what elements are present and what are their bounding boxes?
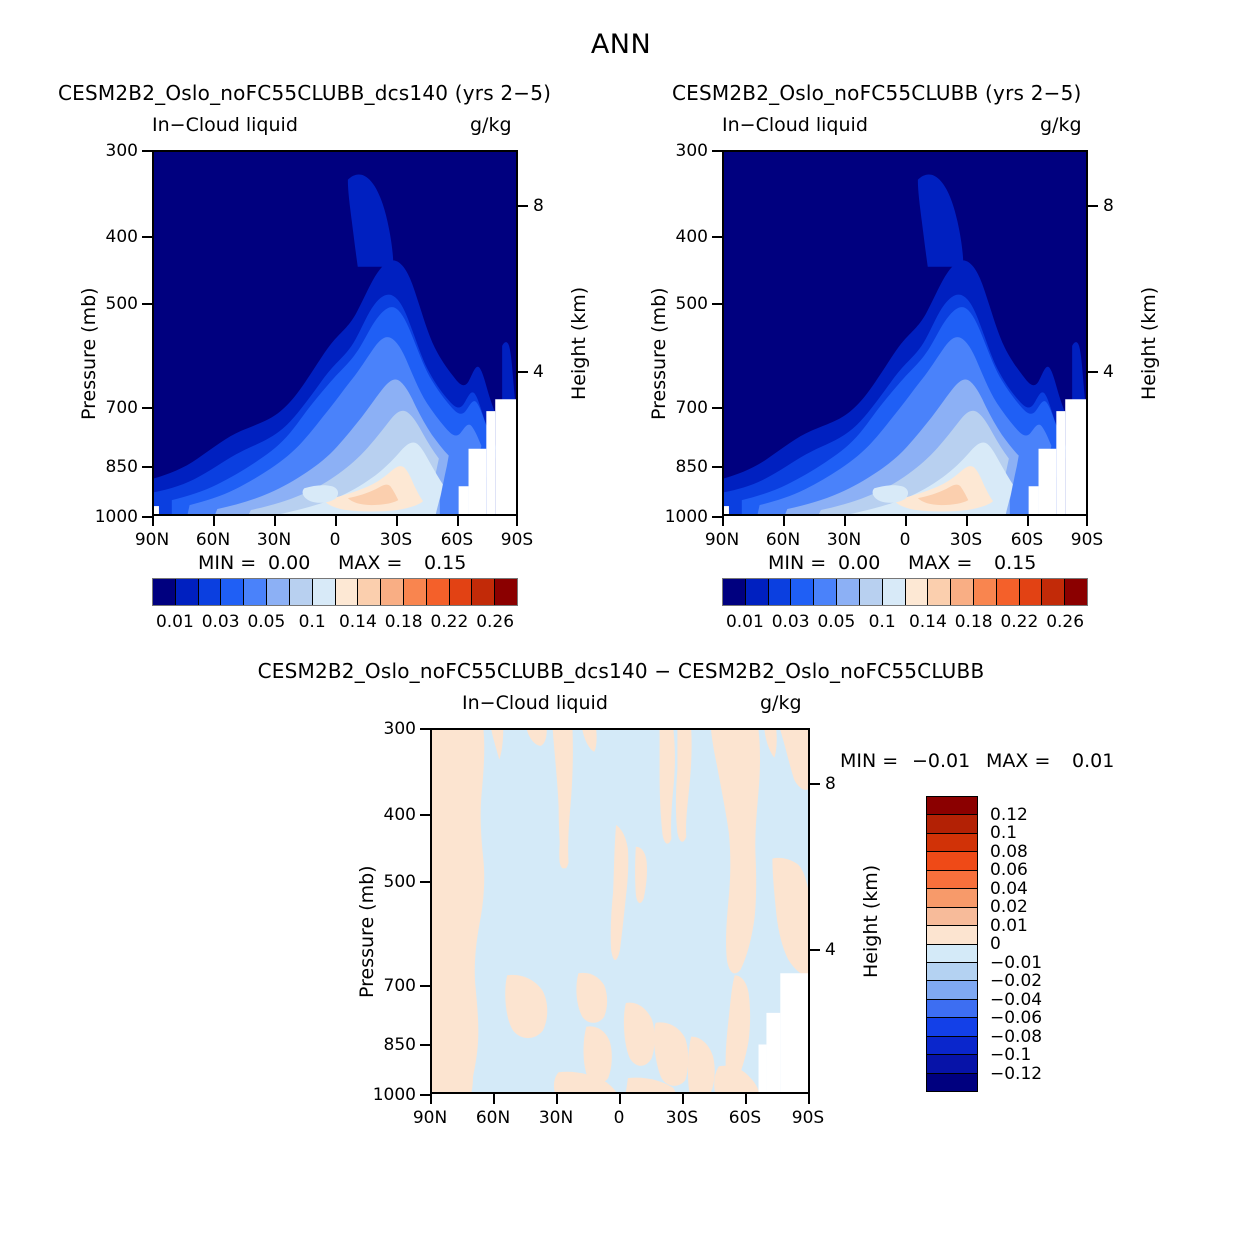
colorbar-cell-15[interactable] [1065,579,1087,605]
ytick-difference-300 [420,728,430,730]
xtick-control-1 [783,516,785,526]
minmax-value-min-difference: −0.01 [912,750,970,772]
ytick-test-500 [142,303,152,305]
xtick-label-difference-60S: 60S [715,1108,775,1128]
xtick-difference-3 [619,1094,621,1104]
colorbar-diff-cell-15[interactable] [927,1074,977,1091]
colorbar-cell-1[interactable] [176,579,199,605]
ytick-right-control-8 [1088,205,1098,207]
ytick-test-1000 [142,516,152,518]
minmax-value-max-control: 0.15 [994,552,1036,574]
xtick-label-test-90S: 90S [487,530,547,550]
minmax-value-min-control: 0.00 [838,552,880,574]
colorbar-difference-labels: 0.120.10.080.060.040.020.010−0.01−0.02−0… [984,796,1074,1092]
ytick-right-test-8 [518,205,528,207]
ytick-label-test-850: 850 [86,457,138,477]
colorbar-tick-label-7: 0.26 [1046,612,1084,632]
minmax-label-min-test: MIN = [198,552,256,574]
colorbar-diff-tick-label-10: −0.04 [990,990,1042,1010]
xtick-difference-1 [493,1094,495,1104]
ytick-right-label-difference-4: 4 [825,940,836,960]
ytick-difference-1000 [420,1094,430,1096]
xtick-difference-2 [556,1094,558,1104]
colorbar-test[interactable] [152,578,518,606]
ytick-control-1000 [712,516,722,518]
xtick-label-difference-90S: 90S [778,1108,838,1128]
colorbar-tick-label-5: 0.18 [385,612,423,632]
colorbar-tick-label-0: 0.01 [726,612,764,632]
xtick-control-4 [966,516,968,526]
ytick-difference-850 [420,1044,430,1046]
xtick-test-3 [335,516,337,526]
xtick-label-difference-90N: 90N [400,1108,460,1128]
colorbar-diff-tick-label-8: −0.01 [990,953,1042,973]
colorbar-diff-tick-label-11: −0.06 [990,1008,1042,1028]
colorbar-cell-3[interactable] [221,579,244,605]
colorbar-cell-1[interactable] [746,579,769,605]
minmax-label-max-difference: MAX = [986,750,1050,772]
colorbar-diff-tick-label-13: −0.1 [990,1045,1031,1065]
panel-title-difference: CESM2B2_Oslo_noFC55CLUBB_dcs140 − CESM2B… [0,659,1242,683]
colorbar-tick-label-3: 0.1 [869,612,896,632]
colorbar-tick-label-6: 0.22 [430,612,468,632]
xtick-label-control-0: 0 [875,530,935,550]
colorbar-cell-10[interactable] [381,579,404,605]
colorbar-cell-2[interactable] [199,579,222,605]
ytick-test-300 [142,150,152,152]
xtick-label-test-60N: 60N [183,530,243,550]
colorbar-cell-14[interactable] [472,579,495,605]
colorbar-cell-13[interactable] [1020,579,1043,605]
colorbar-tick-label-2: 0.05 [817,612,855,632]
xtick-test-1 [213,516,215,526]
xtick-test-5 [457,516,459,526]
colorbar-diff-tick-label-9: −0.02 [990,971,1042,991]
colorbar-diff-tick-label-0: 0.12 [990,805,1028,825]
panel-units-label-control: g/kg [1040,114,1082,136]
colorbar-diff-cell-12[interactable] [927,1018,977,1036]
colorbar-diff-cell-11[interactable] [927,1000,977,1018]
colorbar-cell-15[interactable] [495,579,517,605]
xtick-control-0 [722,516,724,526]
ytick-test-400 [142,236,152,238]
colorbar-cell-4[interactable] [244,579,267,605]
ytick-right-difference-4 [810,949,820,951]
colorbar-diff-tick-label-1: 0.1 [990,823,1017,843]
colorbar-cell-7[interactable] [883,579,906,605]
colorbar-diff-cell-13[interactable] [927,1037,977,1055]
colorbar-cell-8[interactable] [906,579,929,605]
panel-units-label-test: g/kg [470,114,512,136]
colorbar-diff-tick-label-3: 0.06 [990,860,1028,880]
ytick-control-850 [712,466,722,468]
xtick-test-2 [274,516,276,526]
colorbar-tick-label-4: 0.14 [909,612,947,632]
ytick-label-test-1000: 1000 [80,507,138,527]
ytick-right-label-test-4: 4 [533,362,544,382]
colorbar-diff-cell-4[interactable] [927,871,977,889]
contour-field-control [724,152,1086,514]
ytick-right-label-test-8: 8 [533,196,544,216]
ytick-right-label-control-8: 8 [1103,196,1114,216]
colorbar-diff-cell-10[interactable] [927,981,977,999]
yaxis-right-title-control: Height (km) [1138,287,1160,400]
colorbar-cell-7[interactable] [313,579,336,605]
yaxis-right-title-test: Height (km) [568,287,590,400]
xtick-difference-6 [808,1094,810,1104]
colorbar-diff-cell-9[interactable] [927,963,977,981]
colorbar-diff-tick-label-4: 0.04 [990,879,1028,899]
colorbar-diff-tick-label-12: −0.08 [990,1027,1042,1047]
ytick-label-control-1000: 1000 [650,507,708,527]
yaxis-title-difference: Pressure (mb) [356,865,378,998]
minmax-value-max-difference: 0.01 [1072,750,1114,772]
yaxis-title-test: Pressure (mb) [78,287,100,420]
colorbar-cell-3[interactable] [791,579,814,605]
colorbar-cell-12[interactable] [427,579,450,605]
colorbar-cell-8[interactable] [336,579,359,605]
colorbar-tick-label-6: 0.22 [1000,612,1038,632]
colorbar-diff-cell-1[interactable] [927,815,977,833]
xtick-label-control-30N: 30N [814,530,874,550]
colorbar-tick-label-4: 0.14 [339,612,377,632]
colorbar-cell-12[interactable] [997,579,1020,605]
minmax-label-min-control: MIN = [768,552,826,574]
colorbar-cell-6[interactable] [290,579,313,605]
contour-field-test [154,152,516,514]
xtick-control-2 [844,516,846,526]
colorbar-cell-9[interactable] [358,579,381,605]
ytick-control-300 [712,150,722,152]
colorbar-labels-control: 0.010.030.050.10.140.180.220.26 [722,612,1088,636]
colorbar-diff-cell-8[interactable] [927,945,977,963]
xtick-control-6 [1086,516,1088,526]
ytick-right-control-4 [1088,371,1098,373]
colorbar-diff-cell-7[interactable] [927,926,977,944]
ytick-label-difference-400: 400 [364,805,416,825]
colorbar-diff-tick-label-2: 0.08 [990,842,1028,862]
ytick-right-test-4 [518,371,528,373]
ytick-control-700 [712,407,722,409]
xtick-label-test-60S: 60S [427,530,487,550]
ytick-label-control-850: 850 [656,457,708,477]
colorbar-tick-label-1: 0.03 [202,612,240,632]
contour-field-difference [432,730,808,1092]
xtick-label-test-90N: 90N [122,530,182,550]
colorbar-cell-5[interactable] [267,579,290,605]
panel-variable-label-control: In−Cloud liquid [722,114,868,136]
colorbar-tick-label-2: 0.05 [247,612,285,632]
xtick-difference-0 [430,1094,432,1104]
minmax-label-max-control: MAX = [908,552,972,574]
xtick-label-control-60N: 60N [753,530,813,550]
xtick-label-difference-0: 0 [589,1108,649,1128]
ytick-label-control-400: 400 [656,227,708,247]
ytick-right-label-control-4: 4 [1103,362,1114,382]
xtick-label-difference-30S: 30S [652,1108,712,1128]
colorbar-diff-tick-label-7: 0 [990,934,1001,954]
panel-variable-label-difference: In−Cloud liquid [462,692,608,714]
colorbar-control[interactable] [722,578,1088,606]
yaxis-title-control: Pressure (mb) [648,287,670,420]
colorbar-diff-cell-3[interactable] [927,852,977,870]
plot-area-difference [430,728,810,1094]
colorbar-diff-cell-14[interactable] [927,1055,977,1073]
panel-title-control: CESM2B2_Oslo_noFC55CLUBB (yrs 2−5) [672,81,1172,105]
xtick-label-test-30S: 30S [366,530,426,550]
ytick-difference-500 [420,881,430,883]
xtick-label-control-90S: 90S [1057,530,1117,550]
colorbar-tick-label-1: 0.03 [772,612,810,632]
ytick-difference-700 [420,985,430,987]
xtick-label-control-30S: 30S [936,530,996,550]
panel-title-test: CESM2B2_Oslo_noFC55CLUBB_dcs140 (yrs 2−5… [58,81,603,105]
colorbar-cell-0[interactable] [723,579,746,605]
plot-area-test [152,150,518,516]
colorbar-diff-cell-2[interactable] [927,834,977,852]
ytick-label-difference-1000: 1000 [358,1085,416,1105]
xtick-label-test-30N: 30N [244,530,304,550]
colorbar-cell-9[interactable] [928,579,951,605]
colorbar-labels-test: 0.010.030.050.10.140.180.220.26 [152,612,518,636]
colorbar-diff-cell-5[interactable] [927,889,977,907]
main-title: ANN [0,29,1242,60]
xtick-label-control-60S: 60S [997,530,1057,550]
minmax-label-min-difference: MIN = [840,750,898,772]
xtick-label-control-90N: 90N [692,530,752,550]
colorbar-cell-4[interactable] [814,579,837,605]
ytick-label-test-300: 300 [86,141,138,161]
xtick-difference-4 [682,1094,684,1104]
colorbar-diff-tick-label-5: 0.02 [990,897,1028,917]
ytick-control-400 [712,236,722,238]
xtick-test-4 [396,516,398,526]
minmax-value-max-test: 0.15 [424,552,466,574]
xtick-label-difference-60N: 60N [463,1108,523,1128]
colorbar-tick-label-7: 0.26 [476,612,514,632]
colorbar-diff-cell-0[interactable] [927,797,977,815]
colorbar-tick-label-5: 0.18 [955,612,993,632]
ytick-label-difference-850: 850 [364,1035,416,1055]
colorbar-diff-cell-6[interactable] [927,908,977,926]
ytick-control-500 [712,303,722,305]
plot-area-control [722,150,1088,516]
minmax-label-max-test: MAX = [338,552,402,574]
xtick-control-5 [1027,516,1029,526]
colorbar-cell-13[interactable] [450,579,473,605]
colorbar-cell-2[interactable] [769,579,792,605]
ytick-right-difference-8 [810,783,820,785]
xtick-label-difference-30N: 30N [526,1108,586,1128]
colorbar-tick-label-0: 0.01 [156,612,194,632]
xtick-difference-5 [745,1094,747,1104]
colorbar-tick-label-3: 0.1 [299,612,326,632]
colorbar-cell-11[interactable] [974,579,997,605]
ytick-label-test-400: 400 [86,227,138,247]
ytick-test-700 [142,407,152,409]
ytick-label-difference-300: 300 [364,719,416,739]
ytick-difference-400 [420,814,430,816]
xtick-label-test-0: 0 [305,530,365,550]
panel-units-label-difference: g/kg [760,692,802,714]
xtick-test-6 [516,516,518,526]
colorbar-diff-tick-label-14: −0.12 [990,1064,1042,1084]
ytick-label-control-300: 300 [656,141,708,161]
colorbar-cell-11[interactable] [404,579,427,605]
colorbar-cell-10[interactable] [951,579,974,605]
ytick-right-label-difference-8: 8 [825,774,836,794]
colorbar-difference[interactable] [926,796,978,1092]
colorbar-cell-5[interactable] [837,579,860,605]
colorbar-cell-14[interactable] [1042,579,1065,605]
colorbar-cell-0[interactable] [153,579,176,605]
xtick-control-3 [905,516,907,526]
xtick-test-0 [152,516,154,526]
panel-variable-label-test: In−Cloud liquid [152,114,298,136]
colorbar-diff-tick-label-6: 0.01 [990,916,1028,936]
minmax-value-min-test: 0.00 [268,552,310,574]
colorbar-cell-6[interactable] [860,579,883,605]
ytick-test-850 [142,466,152,468]
yaxis-right-title-difference: Height (km) [860,865,882,978]
